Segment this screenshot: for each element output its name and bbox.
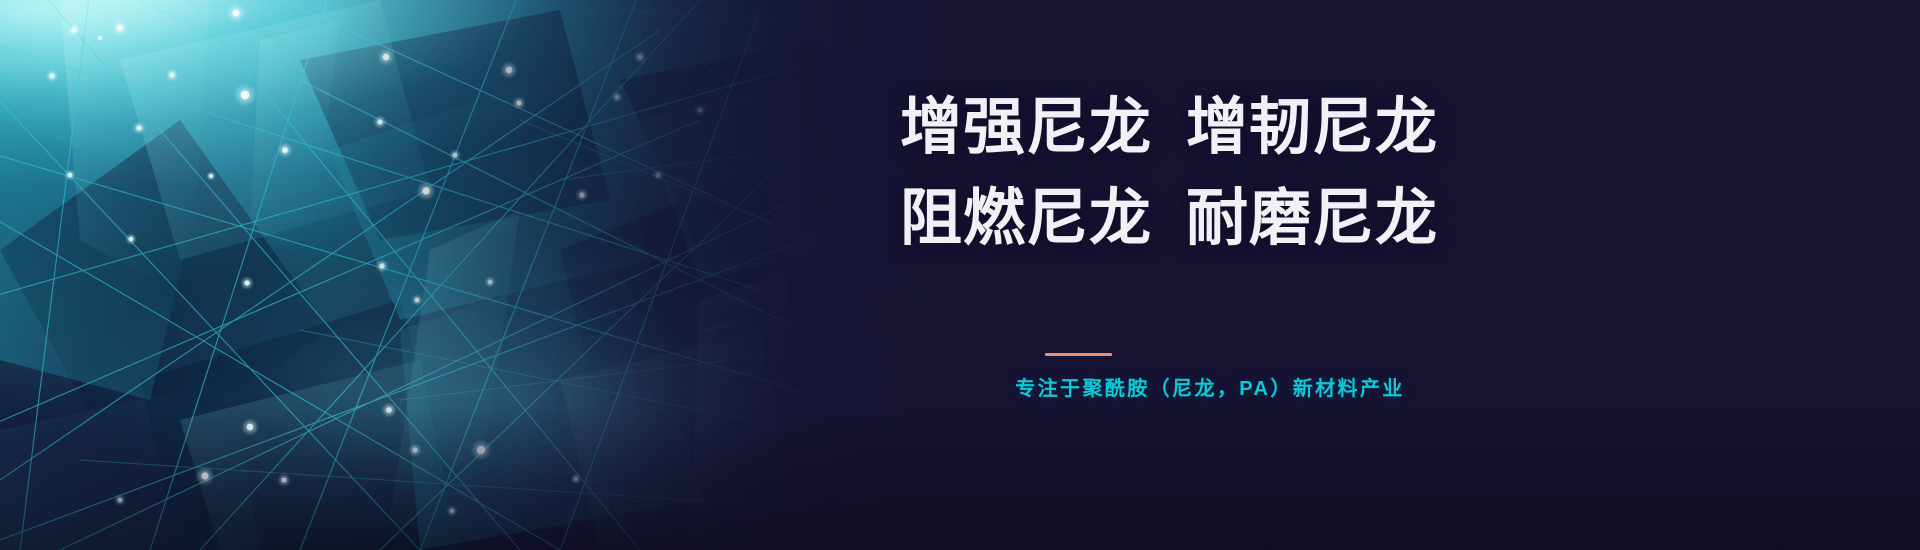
hero-banner: 增强尼龙增韧尼龙 阻燃尼龙耐磨尼龙 专注于聚酰胺（尼龙，PA）新材料产业	[0, 0, 1920, 550]
headline-2-left: 阻燃尼龙	[900, 184, 1152, 253]
headline-1-right: 增韧尼龙	[1186, 93, 1438, 162]
headline-line-2: 阻燃尼龙耐磨尼龙	[900, 188, 1438, 250]
network-nodes	[45, 3, 935, 517]
banner-text-block: 增强尼龙增韧尼龙 阻燃尼龙耐磨尼龙 专注于聚酰胺（尼龙，PA）新材料产业	[900, 0, 1520, 550]
polygon-plates-dark	[0, 10, 900, 550]
headline-1-left: 增强尼龙	[900, 93, 1152, 162]
network-lines	[0, 0, 940, 550]
light-beams	[60, 0, 790, 550]
accent-divider-rule	[1045, 353, 1112, 356]
banner-subtitle: 专注于聚酰胺（尼龙，PA）新材料产业	[900, 372, 1520, 401]
headline-line-1: 增强尼龙增韧尼龙	[900, 97, 1438, 159]
polygon-plates-light	[0, 0, 920, 550]
headline-2-right: 耐磨尼龙	[1186, 184, 1438, 253]
